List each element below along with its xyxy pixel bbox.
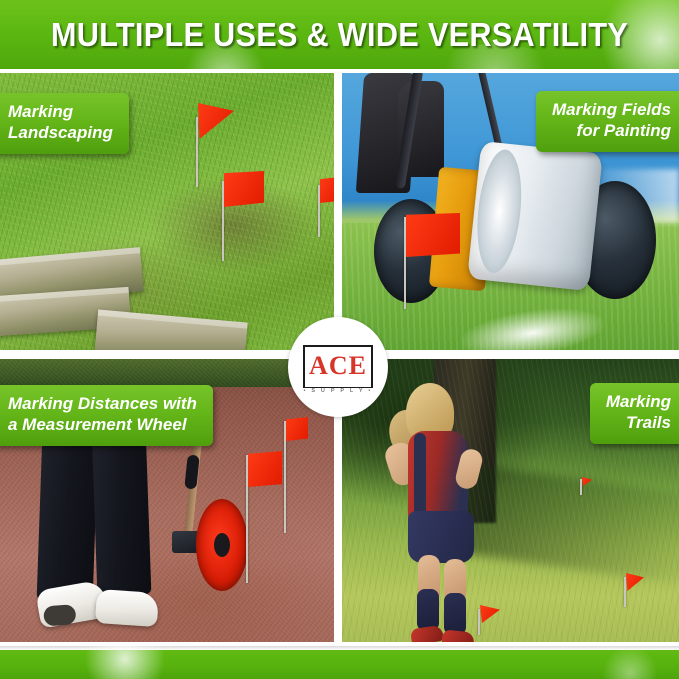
page-title: MULTIPLE USES & WIDE VERSATILITY [24,0,655,69]
marking-flag-icon [624,573,644,607]
runner-figure [384,383,504,633]
panel-label: Marking Trails [590,383,679,444]
sparkle-icon [80,646,170,679]
marking-flag-icon [284,417,308,533]
footer-banner [0,646,679,679]
line-marker-drum [467,141,603,291]
sneaker [95,589,159,627]
marking-flag-icon [404,213,462,309]
panel-marking-fields-for-painting: Marking Fields for Painting [342,73,679,350]
measuring-wheel [196,499,248,591]
brand-logo: ACE • S U P P L Y • [288,317,388,417]
logo-tagline: • S U P P L Y • [300,388,375,394]
logo-frame: ACE • S U P P L Y • [303,345,373,389]
marking-flag-icon [246,451,282,583]
marking-flag-icon [318,177,334,237]
panel-marking-distances: Marking Distances with a Measurement Whe… [0,359,334,642]
panel-label: Marking Landscaping [0,93,129,154]
header-banner: MULTIPLE USES & WIDE VERSATILITY [0,0,679,69]
logo-wordmark: ACE [309,353,367,379]
sparkle-icon [600,648,660,679]
marking-flag-icon [580,477,592,495]
marking-flag-icon [222,171,266,261]
panel-marking-landscaping: Marking Landscaping [0,73,334,350]
marking-flag-icon [478,605,500,635]
panel-label: Marking Fields for Painting [536,91,679,152]
product-infographic: MULTIPLE USES & WIDE VERSATILITY [0,0,679,679]
panel-label: Marking Distances with a Measurement Whe… [0,385,213,446]
panel-marking-trails: Marking Trails [342,359,679,642]
